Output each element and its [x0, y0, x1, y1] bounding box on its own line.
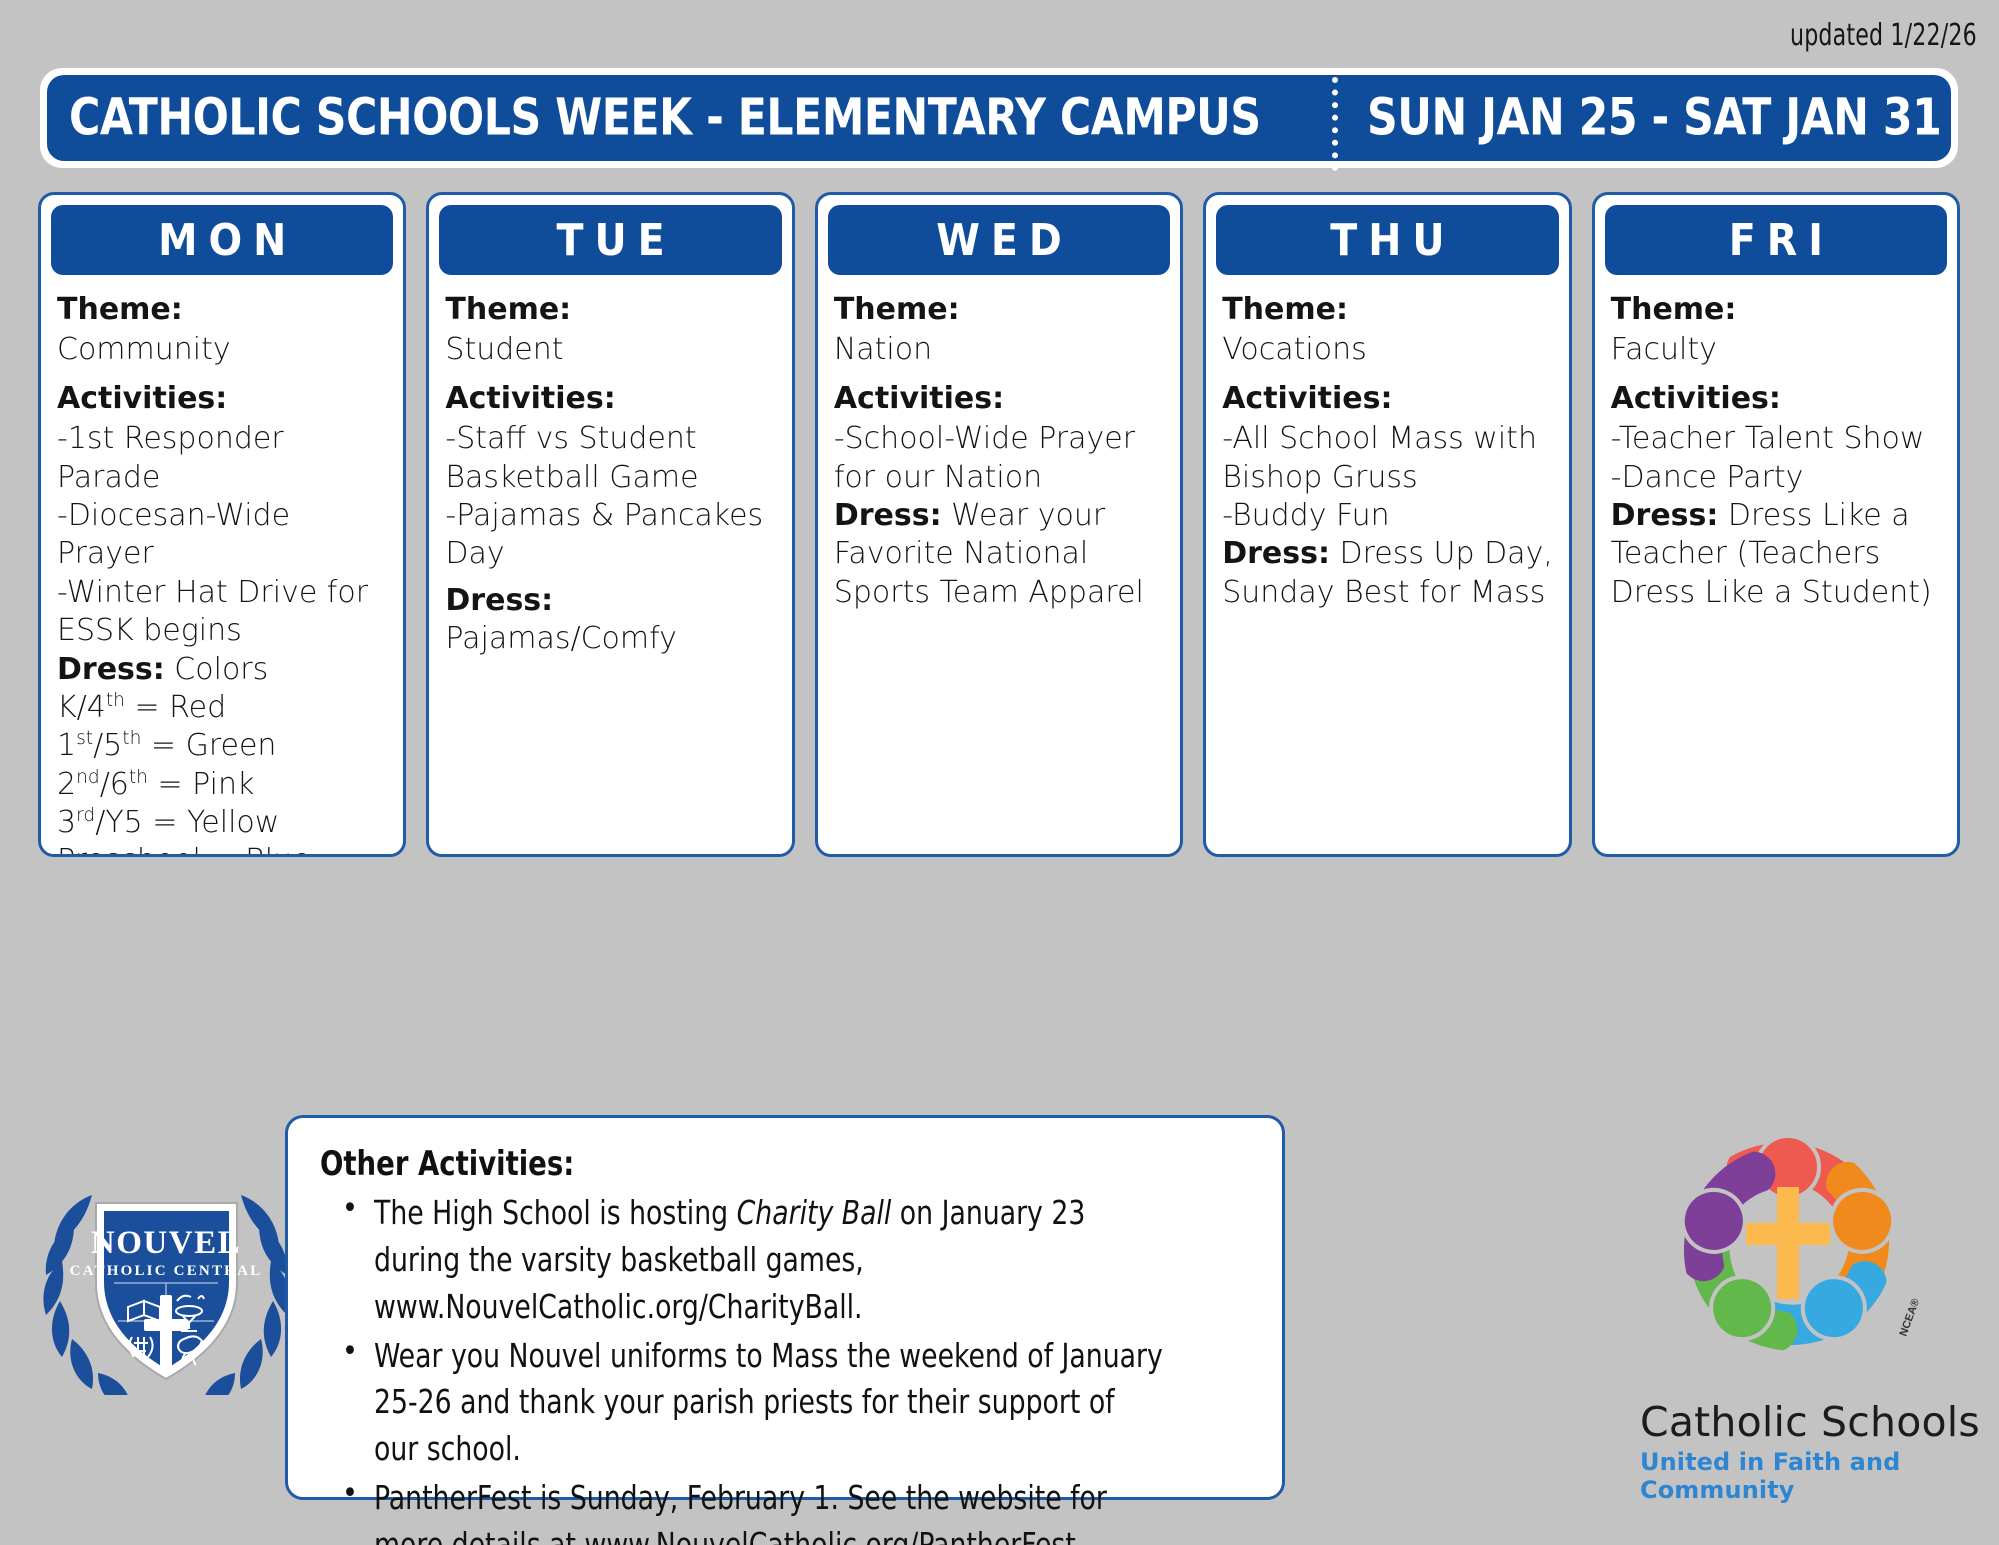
other-activities-box: Other Activities: The High School is hos…	[285, 1115, 1285, 1500]
day-body-tue: Theme:StudentActivities:-Staff vs Studen…	[439, 275, 781, 659]
day-card-wed: WEDTheme:NationActivities:-School-Wide P…	[815, 192, 1183, 857]
activities-label: Activities:	[445, 380, 777, 418]
activity-item: -Winter Hat Drive for ESSK begins	[57, 574, 389, 651]
other-activity-item: The High School is hosting Charity Ball …	[320, 1190, 1252, 1331]
dress-label: Dress:	[445, 582, 777, 620]
other-activities-list: The High School is hosting Charity Ball …	[320, 1190, 1252, 1545]
header-banner: CATHOLIC SCHOOLS WEEK - ELEMENTARY CAMPU…	[40, 68, 1958, 168]
other-activity-text: The High School is hosting Charity Ball …	[374, 1190, 1164, 1331]
dress-detail: K/4th = Red	[57, 689, 389, 727]
theme-label: Theme:	[834, 291, 1166, 329]
dress-line: Dress: Dress Like a Teacher (Teachers Dr…	[1611, 497, 1943, 612]
day-header-thu: THU	[1216, 205, 1558, 275]
csw-line1: Catholic Schools	[1640, 1398, 1999, 1446]
dress-detail: 1st/5th = Green	[57, 727, 389, 765]
dress-detail: 2nd/6th = Pink	[57, 766, 389, 804]
dress-line: Dress: Colors	[57, 651, 389, 689]
day-header-mon: MON	[51, 205, 393, 275]
activities-label: Activities:	[834, 380, 1166, 418]
activities-label: Activities:	[1611, 380, 1943, 418]
day-card-tue: TUETheme:StudentActivities:-Staff vs Stu…	[426, 192, 794, 857]
activity-item: -Dance Party	[1611, 459, 1943, 497]
activity-item: -1st Responder Parade	[57, 420, 389, 497]
dress-detail: Pajamas/Comfy	[445, 620, 777, 658]
theme-value: Vocations	[1222, 331, 1554, 369]
updated-stamp: updated 1/22/26	[1790, 18, 1977, 53]
nouvel-catholic-central-logo: NOUVEL CATHOLIC CENTRAL	[34, 1155, 299, 1395]
dress-line: Dress: Wear your Favorite National Sport…	[834, 497, 1166, 612]
theme-label: Theme:	[1222, 291, 1554, 329]
other-activity-text: Wear you Nouvel uniforms to Mass the wee…	[374, 1333, 1164, 1474]
date-range: SUN JAN 25 - SAT JAN 31	[1367, 89, 1941, 148]
day-header-wed: WED	[828, 205, 1170, 275]
activity-item: -Teacher Talent Show	[1611, 420, 1943, 458]
theme-value: Nation	[834, 331, 1166, 369]
day-header-tue: TUE	[439, 205, 781, 275]
activity-item: -Buddy Fun	[1222, 497, 1554, 535]
activity-item: -School-Wide Prayer for our Nation	[834, 420, 1166, 497]
other-activity-item: PantherFest is Sunday, February 1. See t…	[320, 1475, 1252, 1545]
day-body-mon: Theme:CommunityActivities:-1st Responder…	[51, 275, 393, 857]
day-body-wed: Theme:NationActivities:-School-Wide Pray…	[828, 275, 1170, 612]
activities-label: Activities:	[1222, 380, 1554, 418]
theme-value: Community	[57, 331, 389, 369]
svg-text:CATHOLIC CENTRAL: CATHOLIC CENTRAL	[70, 1263, 263, 1279]
other-activities-title: Other Activities:	[320, 1144, 1159, 1184]
catholic-schools-tagline: Catholic Schools United in Faith and Com…	[1640, 1398, 1999, 1504]
svg-text:NOUVEL: NOUVEL	[91, 1225, 241, 1261]
theme-label: Theme:	[445, 291, 777, 329]
ncea-mark: NCEA®	[1898, 1297, 1923, 1338]
day-body-thu: Theme:VocationsActivities:-All School Ma…	[1216, 275, 1558, 612]
day-card-thu: THUTheme:VocationsActivities:-All School…	[1203, 192, 1571, 857]
day-card-fri: FRITheme:FacultyActivities:-Teacher Tale…	[1592, 192, 1960, 857]
poster-root: updated 1/22/26 CATHOLIC SCHOOLS WEEK - …	[0, 0, 1999, 1545]
csw-line2: United in Faith and Community	[1640, 1448, 1999, 1504]
theme-value: Faculty	[1611, 331, 1943, 369]
dress-detail: Preschool = Blue	[57, 842, 389, 857]
day-card-mon: MONTheme:CommunityActivities:-1st Respon…	[38, 192, 406, 857]
activities-label: Activities:	[57, 380, 389, 418]
activity-item: -Diocesan-Wide Prayer	[57, 497, 389, 574]
page-title: CATHOLIC SCHOOLS WEEK - ELEMENTARY CAMPU…	[69, 89, 1261, 148]
activity-item: -All School Mass with Bishop Gruss	[1222, 420, 1554, 497]
theme-label: Theme:	[57, 291, 389, 329]
dress-line: Dress: Dress Up Day, Sunday Best for Mas…	[1222, 535, 1554, 612]
day-columns: MONTheme:CommunityActivities:-1st Respon…	[38, 192, 1960, 857]
other-activity-item: Wear you Nouvel uniforms to Mass the wee…	[320, 1333, 1252, 1474]
banner-divider	[1332, 77, 1338, 171]
theme-value: Student	[445, 331, 777, 369]
other-activity-text: PantherFest is Sunday, February 1. See t…	[374, 1475, 1164, 1545]
activity-item: -Staff vs Student Basketball Game	[445, 420, 777, 497]
activity-item: -Pajamas & Pancakes Day	[445, 497, 777, 574]
day-body-fri: Theme:FacultyActivities:-Teacher Talent …	[1605, 275, 1947, 612]
dress-detail: 3rd/Y5 = Yellow	[57, 804, 389, 842]
theme-label: Theme:	[1611, 291, 1943, 329]
header-banner-inner: CATHOLIC SCHOOLS WEEK - ELEMENTARY CAMPU…	[47, 75, 1951, 161]
day-header-fri: FRI	[1605, 205, 1947, 275]
